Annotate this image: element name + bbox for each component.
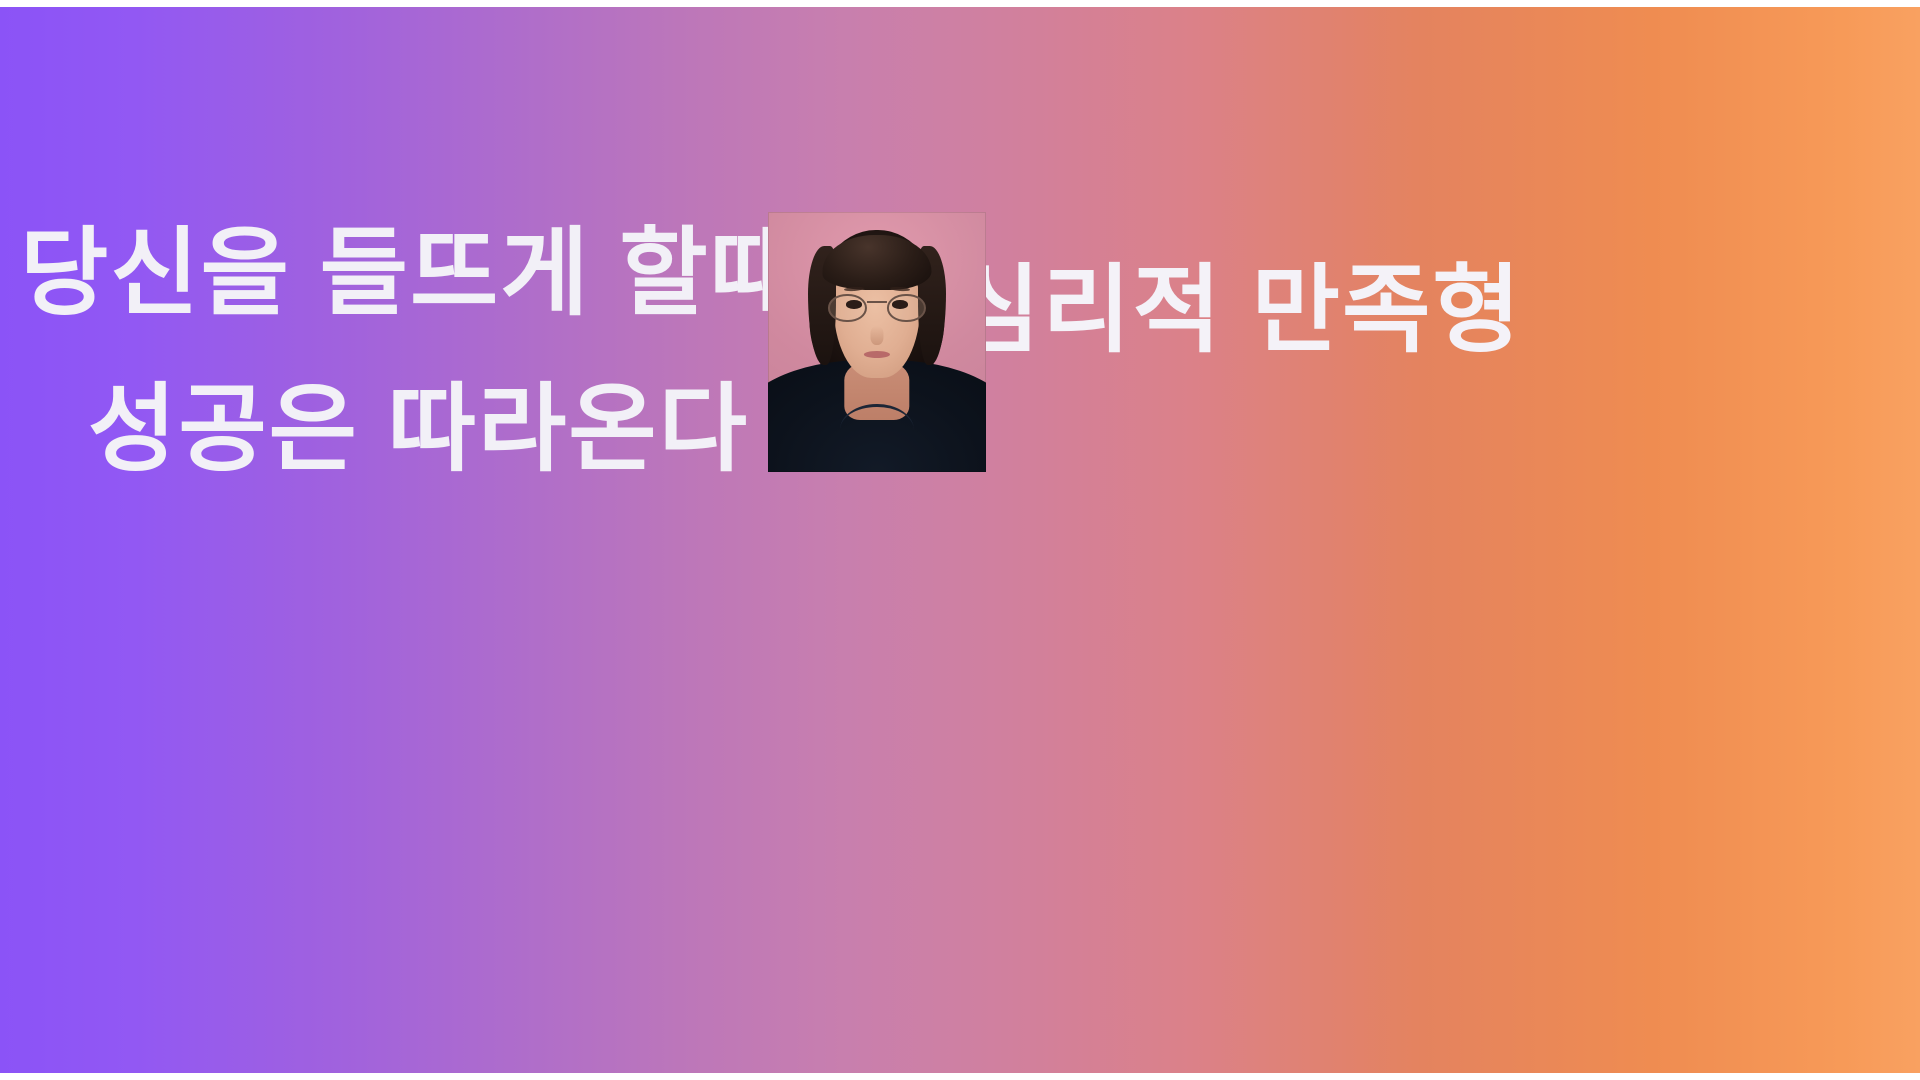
portrait-eye-left	[846, 300, 861, 308]
gradient-background	[0, 6, 1920, 1074]
portrait-photo	[768, 212, 986, 472]
bottom-white-band	[0, 1073, 1920, 1080]
top-white-band	[0, 0, 1920, 7]
portrait-eye-right	[892, 300, 907, 308]
glasses-lens-right	[887, 294, 926, 323]
glasses-bridge	[867, 301, 887, 303]
portrait-nose	[870, 326, 883, 344]
glasses-lens-left	[828, 294, 867, 323]
portrait-backdrop	[768, 212, 986, 472]
slide-canvas: 당신을 들뜨게 할때 성공은 따라온다 심리적 만족형	[0, 0, 1920, 1080]
glasses-icon	[828, 294, 926, 323]
portrait-mouth	[864, 351, 890, 358]
